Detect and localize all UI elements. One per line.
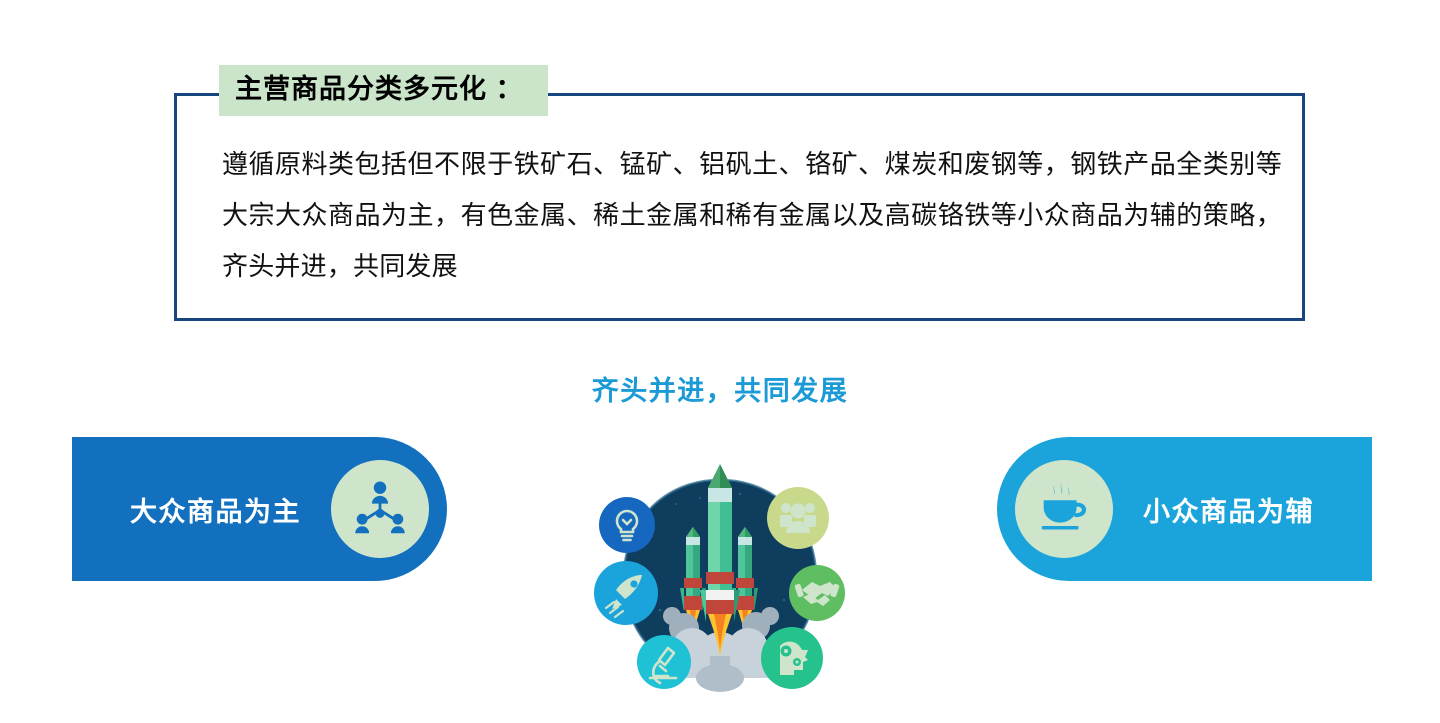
- panel-body-text: 遵循原料类包括但不限于铁矿石、锰矿、铝矾土、铬矿、煤炭和废钢等，钢铁产品全类别等…: [222, 139, 1282, 292]
- card-mass-commodities[interactable]: 大众商品为主: [72, 437, 447, 581]
- orbit-icon-handshake: [789, 565, 845, 621]
- orbit-icon-people: [767, 487, 829, 549]
- card-niche-commodities[interactable]: 小众商品为辅: [997, 437, 1372, 581]
- orbit-icon-microscope: [637, 635, 691, 689]
- card-label-niche-commodities: 小众商品为辅: [1113, 490, 1344, 529]
- card-label-mass-commodities: 大众商品为主: [100, 490, 331, 529]
- panel-tag-label: 主营商品分类多元化 ：: [219, 65, 548, 116]
- orbit-icon-brain-gears: [761, 627, 823, 689]
- center-headline: 齐头并进，共同发展: [0, 369, 1440, 408]
- pencil-rocket-illustration: [580, 450, 860, 700]
- orbit-icon-rocket: [594, 561, 658, 625]
- coffee-cup-icon: [1033, 478, 1095, 540]
- people-network-icon: [349, 478, 411, 540]
- card-badge-left: [331, 460, 429, 558]
- card-badge-right: [1015, 460, 1113, 558]
- orbit-icon-lightbulb: [599, 497, 655, 553]
- illustration-svg: [580, 450, 860, 700]
